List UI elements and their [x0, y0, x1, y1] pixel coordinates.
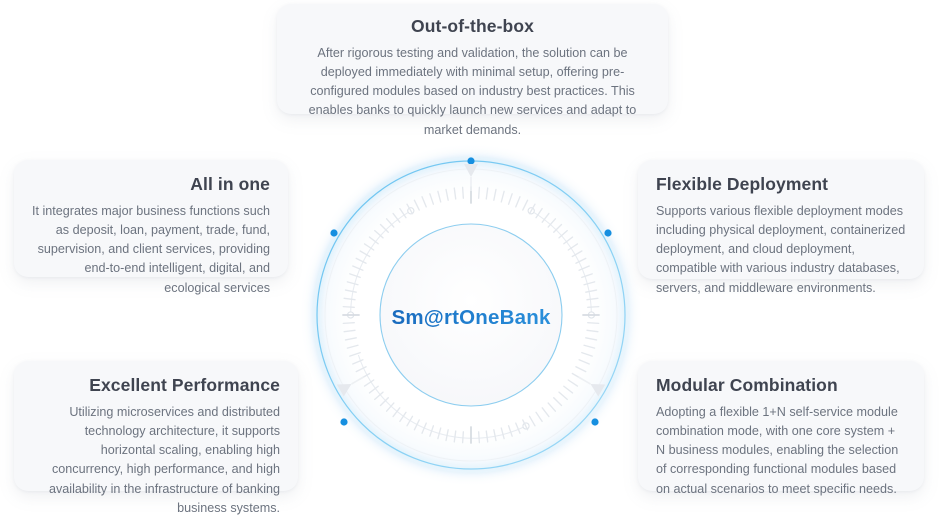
feature-card-modular-combination[interactable]: Modular Combination Adopting a flexible …	[638, 361, 924, 491]
feature-card-excellent-performance[interactable]: Excellent Performance Utilizing microser…	[14, 361, 298, 491]
feature-card-all-in-one[interactable]: All in one It integrates major business …	[14, 160, 288, 277]
card-body: Adopting a flexible 1+N self-service mod…	[656, 403, 906, 499]
card-title: Modular Combination	[656, 375, 906, 396]
feature-card-flexible-deployment[interactable]: Flexible Deployment Supports various fle…	[638, 160, 924, 279]
ring-node-left-lower	[340, 418, 347, 425]
card-title: Flexible Deployment	[656, 174, 906, 195]
infographic-canvas: Out-of-the-box After rigorous testing an…	[0, 0, 941, 500]
inner-circle	[380, 224, 562, 406]
ring-node-right-upper	[604, 229, 611, 236]
card-title: Excellent Performance	[32, 375, 280, 396]
card-body: Utilizing microservices and distributed …	[32, 403, 280, 518]
card-title: Out-of-the-box	[295, 16, 650, 37]
feature-card-out-of-the-box[interactable]: Out-of-the-box After rigorous testing an…	[277, 4, 668, 114]
ring-node-top	[467, 157, 474, 164]
card-body: After rigorous testing and validation, t…	[295, 44, 650, 140]
card-body: It integrates major business functions s…	[32, 202, 270, 298]
card-title: All in one	[32, 174, 270, 195]
card-body: Supports various flexible deployment mod…	[656, 202, 906, 298]
ring-node-left-upper	[330, 229, 337, 236]
ring-node-right-lower	[591, 418, 598, 425]
central-hub-graphic: Sm@rtOneBank	[296, 140, 646, 490]
